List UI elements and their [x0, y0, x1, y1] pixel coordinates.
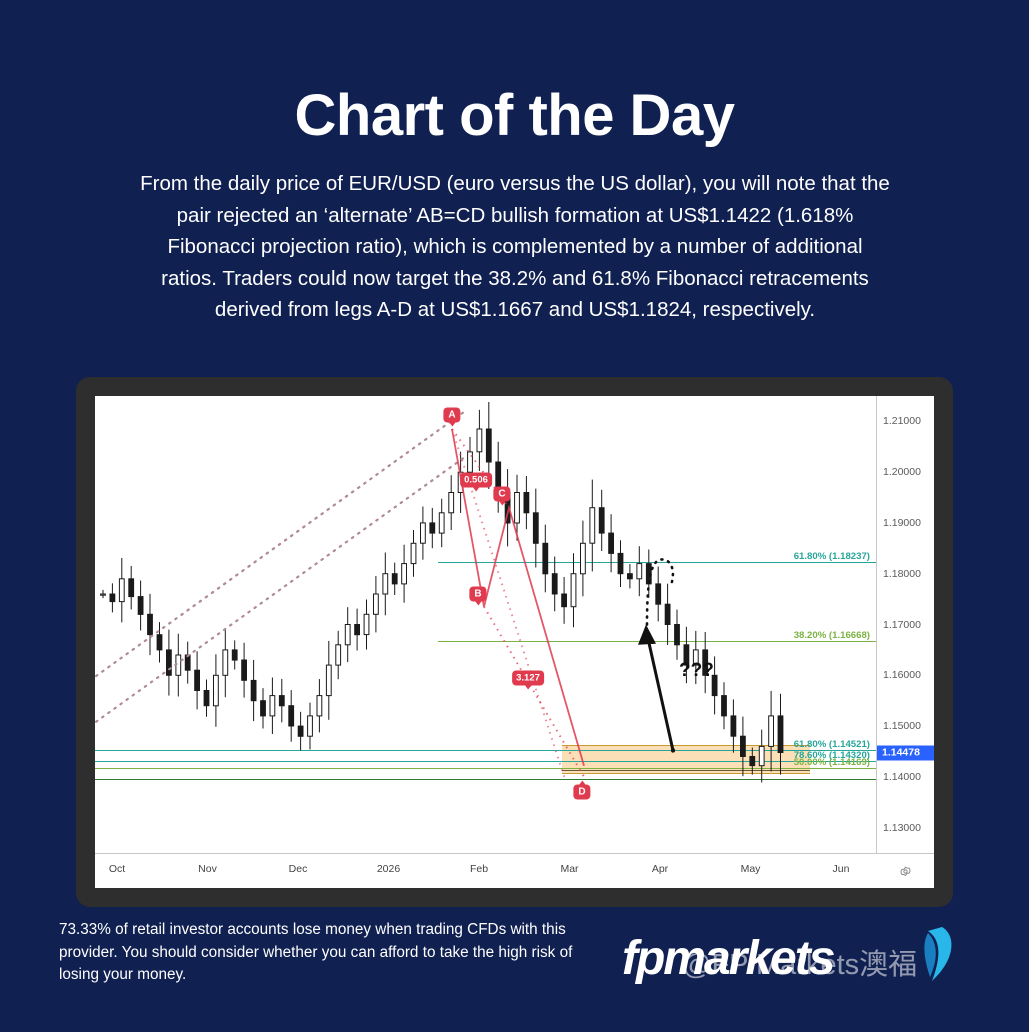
price-tick-5: 1.16000 [877, 669, 934, 681]
intro-paragraph: From the daily price of EUR/USD (euro ve… [140, 168, 890, 326]
projection-question-annotation: ??? [679, 660, 714, 682]
pattern-point-c[interactable]: C [493, 486, 510, 501]
gear-icon [898, 864, 913, 879]
candlestick-series [95, 396, 876, 853]
price-tick-8: 1.13000 [877, 822, 934, 834]
chart-canvas[interactable]: 61.80% (1.18237)38.20% (1.16668)61.80% (… [95, 396, 934, 888]
time-tick-4: Feb [470, 863, 488, 875]
time-tick-6: Apr [652, 863, 668, 875]
time-tick-3: 2026 [377, 863, 400, 875]
chart-settings-button[interactable] [877, 854, 934, 888]
chart-frame: 61.80% (1.18237)38.20% (1.16668)61.80% (… [76, 377, 953, 907]
price-plot[interactable]: 61.80% (1.18237)38.20% (1.16668)61.80% (… [95, 396, 876, 853]
pattern-point-a[interactable]: A [443, 408, 460, 423]
price-tick-1: 1.20000 [877, 466, 934, 478]
price-axis[interactable]: 1.210001.200001.190001.180001.170001.160… [877, 396, 934, 853]
page-title: Chart of the Day [0, 82, 1029, 149]
price-tick-2: 1.19000 [877, 517, 934, 529]
time-tick-7: May [741, 863, 761, 875]
time-tick-0: Oct [109, 863, 125, 875]
time-tick-8: Jun [833, 863, 850, 875]
price-tick-4: 1.17000 [877, 619, 934, 631]
watermark-text: @FP Markets澳福 [682, 948, 917, 982]
time-tick-1: Nov [198, 863, 217, 875]
price-tick-3: 1.18000 [877, 568, 934, 580]
pattern-ratio-0506[interactable]: 0.506 [460, 472, 492, 487]
price-tick-7: 1.14000 [877, 771, 934, 783]
time-tick-2: Dec [289, 863, 308, 875]
pattern-point-d[interactable]: D [573, 784, 590, 799]
pattern-ratio-3127[interactable]: 3.127 [512, 670, 544, 685]
chart-of-the-day-card: Chart of the Day From the daily price of… [0, 0, 1029, 1032]
current-price-tag: 1.14478 [877, 745, 934, 760]
pattern-point-b[interactable]: B [469, 586, 486, 601]
price-tick-6: 1.15000 [877, 720, 934, 732]
time-tick-5: Mar [560, 863, 578, 875]
price-tick-0: 1.21000 [877, 415, 934, 427]
time-axis[interactable]: OctNovDec2026FebMarAprMayJun [95, 854, 876, 888]
risk-disclaimer: 73.33% of retail investor accounts lose … [59, 919, 599, 987]
